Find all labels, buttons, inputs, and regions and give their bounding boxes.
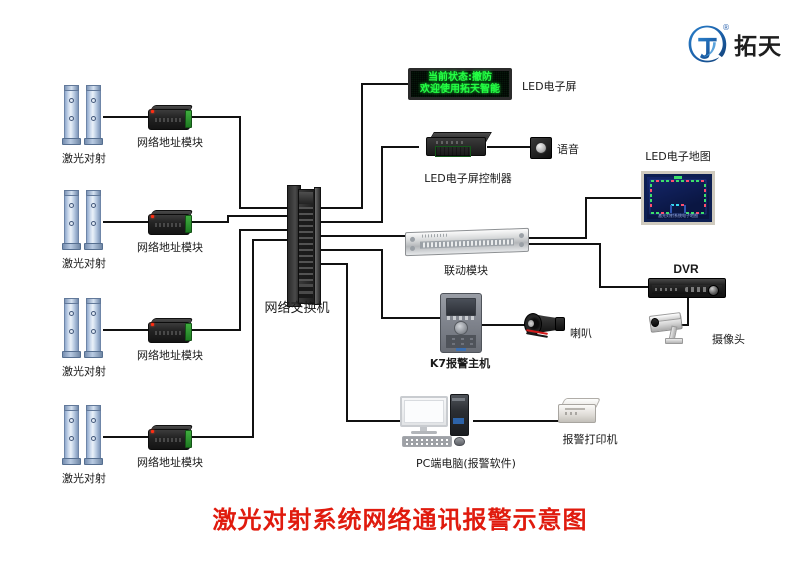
laser-detector-4-label: 激光对射: [62, 470, 106, 486]
laser-detector-3-label: 激光对射: [62, 363, 106, 379]
linkage-module-label: 联动模块: [444, 262, 488, 278]
k7-alarm-host-label: K7报警主机: [430, 355, 490, 371]
brand-name: 拓天: [734, 27, 782, 61]
led-map-label: LED电子地图: [645, 148, 711, 164]
alarm-siren-speaker-label: 喇叭: [570, 325, 592, 341]
pc-workstation-label: PC端电脑(报警软件): [416, 455, 516, 471]
dvr-label: DVR: [673, 262, 698, 276]
wire-module1-switch: [193, 117, 240, 208]
laser-detector-1-label: 激光对射: [62, 150, 106, 166]
tuotian-mark-icon: ®: [686, 23, 728, 65]
surveillance-camera-label: 摄像头: [712, 331, 745, 347]
network-address-module-3-label: 网络地址模块: [137, 347, 203, 363]
k7-alarm-host[interactable]: [440, 293, 482, 353]
network-switch-label: 网络交换机: [264, 297, 329, 316]
laser-detector-2-label: 激光对射: [62, 255, 106, 271]
network-address-module-3[interactable]: [148, 318, 192, 343]
wire-linkage-dvr: [528, 244, 648, 287]
wire-switch-pc: [320, 264, 400, 421]
wire-module4-switch: [193, 240, 253, 437]
surveillance-camera[interactable]: [648, 312, 692, 344]
voice-speaker-device[interactable]: [530, 137, 552, 159]
dvr-recorder[interactable]: [648, 278, 726, 298]
network-address-module-1[interactable]: [148, 105, 192, 130]
led-map-caption: 激光对射系统电子地图: [658, 213, 698, 219]
network-address-module-2-label: 网络地址模块: [137, 239, 203, 255]
linkage-module[interactable]: [405, 228, 529, 256]
diagram-canvas: ® 拓天 激光对射 网络地址模块 激光对射 网络地址模块 激光对射: [0, 0, 800, 579]
alarm-siren-speaker[interactable]: [524, 311, 570, 339]
network-switch[interactable]: [287, 185, 321, 305]
led-screen-line1: 当前状态:撤防: [428, 72, 492, 84]
laser-detector-2[interactable]: [62, 188, 108, 250]
laser-detector-4[interactable]: [62, 403, 108, 465]
network-address-module-4[interactable]: [148, 425, 192, 450]
led-electronic-map[interactable]: 激光对射系统电子地图: [641, 171, 715, 225]
wire-linkage-ledmap: [528, 198, 640, 238]
diagram-title: 激光对射系统网络通讯报警示意图: [213, 500, 588, 535]
led-screen-line2: 欢迎使用拓天智能: [420, 84, 500, 96]
voice-speaker-label: 语音: [557, 141, 579, 157]
alarm-printer[interactable]: [558, 396, 598, 424]
led-display-screen-label: LED电子屏: [522, 78, 577, 94]
laser-detector-3[interactable]: [62, 296, 108, 358]
laser-detector-1[interactable]: [62, 83, 108, 145]
pc-workstation[interactable]: [400, 396, 474, 446]
wire-switch-k7: [320, 250, 440, 318]
led-screen-controller-label: LED电子屏控制器: [424, 170, 512, 186]
network-address-module-1-label: 网络地址模块: [137, 134, 203, 150]
wire-switch-ledcontroller: [320, 147, 418, 222]
brand-logo: ® 拓天: [686, 22, 782, 66]
wire-module2-switch: [193, 216, 228, 222]
network-address-module-2[interactable]: [148, 210, 192, 235]
alarm-printer-label: 报警打印机: [563, 431, 618, 447]
registered-trademark-icon: ®: [722, 23, 730, 32]
network-address-module-4-label: 网络地址模块: [137, 454, 203, 470]
led-display-screen[interactable]: 当前状态:撤防 欢迎使用拓天智能: [408, 68, 512, 100]
led-screen-controller[interactable]: [426, 131, 488, 159]
